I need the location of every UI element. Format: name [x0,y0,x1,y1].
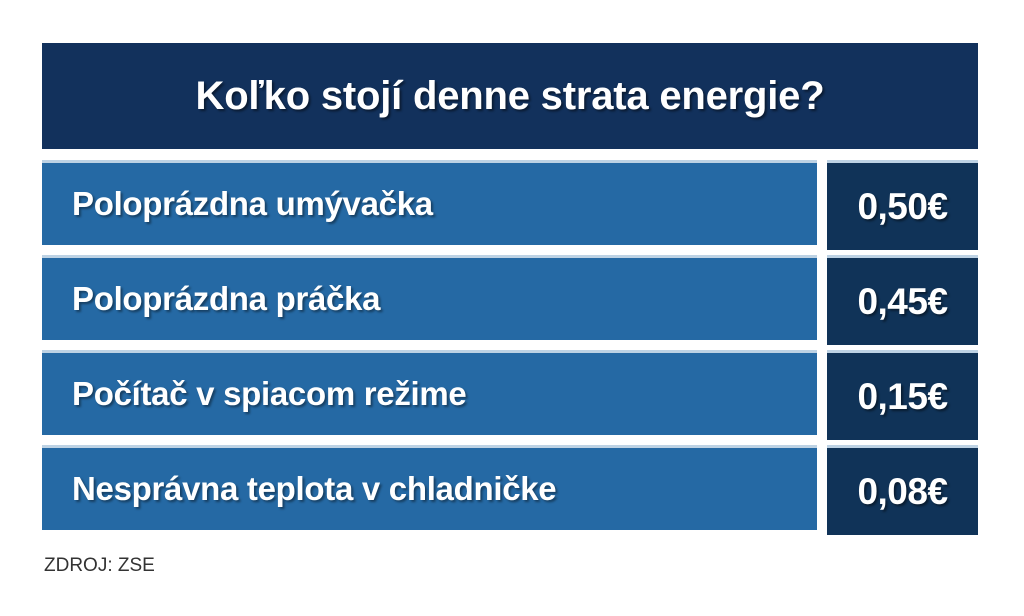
table-row: Poloprázdna práčka 0,45€ [42,255,978,340]
row-value-box: 0,08€ [827,445,978,535]
row-value: 0,15€ [857,376,947,418]
source-label: ZDROJ: ZSE [44,555,155,577]
row-label: Nesprávna teplota v chladničke [42,470,556,508]
table-row: Poloprázdna umývačka 0,50€ [42,160,978,245]
rows-container: Poloprázdna umývačka 0,50€ Poloprázdna p… [0,0,1024,616]
table-row: Nesprávna teplota v chladničke 0,08€ [42,445,978,530]
row-value-box: 0,15€ [827,350,978,440]
row-label: Poloprázdna práčka [42,280,380,318]
row-label-bar: Poloprázdna umývačka [42,160,817,245]
table-row: Počítač v spiacom režime 0,15€ [42,350,978,435]
row-label-bar: Počítač v spiacom režime [42,350,817,435]
row-label-bar: Nesprávna teplota v chladničke [42,445,817,530]
row-label-bar: Poloprázdna práčka [42,255,817,340]
infographic-root: Koľko stojí denne strata energie? Polopr… [0,0,1024,616]
row-label: Počítač v spiacom režime [42,375,467,413]
row-value-box: 0,50€ [827,160,978,250]
row-value: 0,08€ [857,471,947,513]
row-label: Poloprázdna umývačka [42,185,433,223]
row-value: 0,50€ [857,186,947,228]
row-value: 0,45€ [857,281,947,323]
row-value-box: 0,45€ [827,255,978,345]
